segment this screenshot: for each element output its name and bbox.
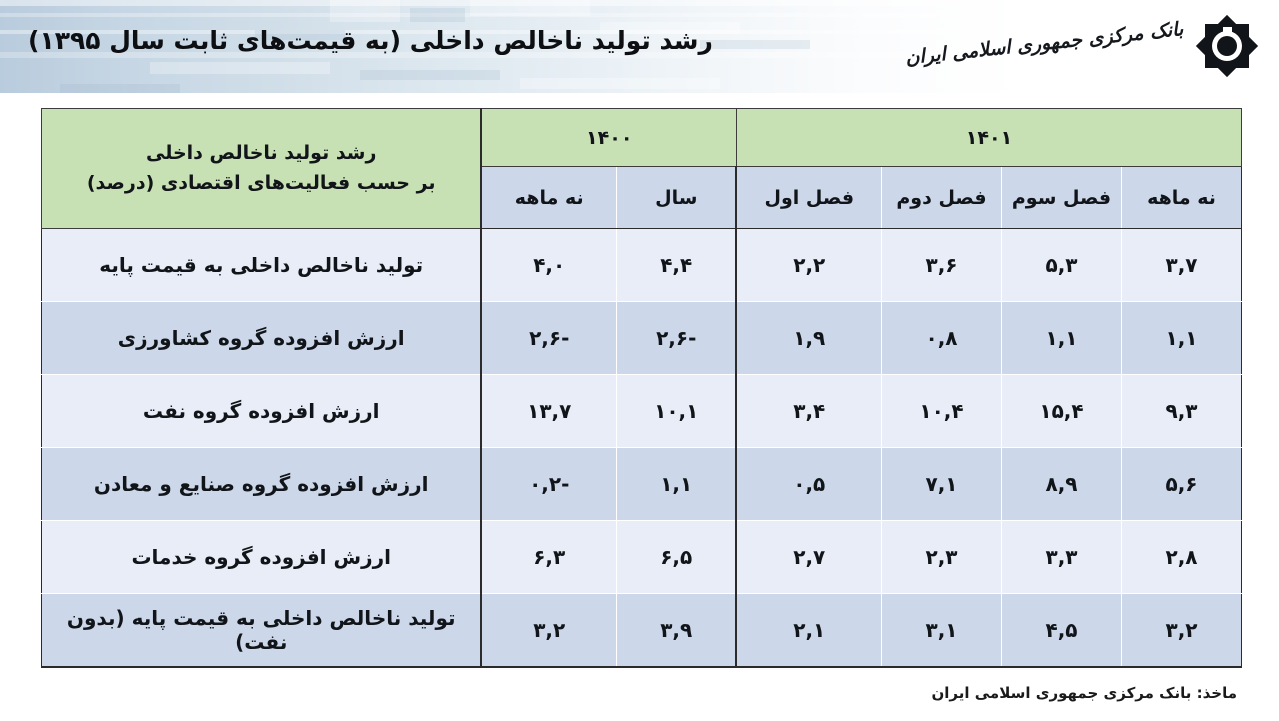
gdp-growth-table-container: ۱۴۰۱ ۱۴۰۰ رشد تولید ناخالص داخلی بر حسب … [42,108,1242,668]
stub-header-line-1: رشد تولید ناخالص داخلی [42,139,481,168]
cell-value: ۶,۵ [616,521,736,594]
cell-value: ۱۵,۴ [1002,375,1122,448]
row-label: ارزش افزوده گروه نفت [41,375,481,448]
row-label: تولید ناخالص داخلی به قیمت پایه (بدون نف… [41,594,481,667]
cell-value: ۰,۵ [736,448,881,521]
cell-value: ۳,۹ [616,594,736,667]
cell-value: ۵,۳ [1002,229,1122,302]
row-label: ارزش افزوده گروه صنایع و معادن [41,448,481,521]
table-row: ۳,۲ ۴,۵ ۳,۱ ۲,۱ ۳,۹ ۳,۲ تولید ناخالص داخ… [41,594,1241,667]
row-label: ارزش افزوده گروه خدمات [41,521,481,594]
col-header-1401-q3: فصل سوم [1002,167,1122,229]
cell-value: ۸,۹ [1002,448,1122,521]
cell-value: -۲,۶ [616,302,736,375]
cell-value: ۳,۱ [882,594,1002,667]
cell-value: ۰,۸ [882,302,1002,375]
table-row: ۱,۱ ۱,۱ ۰,۸ ۱,۹ -۲,۶ -۲,۶ ارزش افزوده گر… [41,302,1241,375]
table-head: ۱۴۰۱ ۱۴۰۰ رشد تولید ناخالص داخلی بر حسب … [41,109,1241,229]
bank-name-calligraphy: بانک مرکزی جمهوری اسلامی ایران [904,18,1184,69]
group-header-1400: ۱۴۰۰ [481,109,736,167]
table-row: ۲,۸ ۳,۳ ۲,۳ ۲,۷ ۶,۵ ۶,۳ ارزش افزوده گروه… [41,521,1241,594]
cell-value: ۴,۴ [616,229,736,302]
cell-value: ۲,۸ [1122,521,1242,594]
cell-value: ۳,۲ [1122,594,1242,667]
source-note: ماخذ: بانک مرکزی جمهوری اسلامی ایران [931,684,1237,702]
cell-value: ۱,۱ [1002,302,1122,375]
cell-value: ۱۰,۱ [616,375,736,448]
cell-value: ۶,۳ [481,521,616,594]
group-header-row: ۱۴۰۱ ۱۴۰۰ رشد تولید ناخالص داخلی بر حسب … [41,109,1241,167]
cell-value: ۱,۱ [1122,302,1242,375]
cell-value: ۳,۴ [736,375,881,448]
cell-value: ۴,۰ [481,229,616,302]
cell-value: ۱۰,۴ [882,375,1002,448]
col-header-1401-nine-months: نه ماهه [1122,167,1242,229]
stub-header-line-2: بر حسب فعالیت‌های اقتصادی (درصد) [42,169,481,198]
cell-value: ۴,۵ [1002,594,1122,667]
cell-value: ۹,۳ [1122,375,1242,448]
cell-value: ۲,۷ [736,521,881,594]
gdp-growth-table: ۱۴۰۱ ۱۴۰۰ رشد تولید ناخالص داخلی بر حسب … [41,108,1242,668]
cell-value: ۲,۱ [736,594,881,667]
table-body: ۳,۷ ۵,۳ ۳,۶ ۲,۲ ۴,۴ ۴,۰ تولید ناخالص داخ… [41,229,1241,667]
table-row: ۵,۶ ۸,۹ ۷,۱ ۰,۵ ۱,۱ -۰,۲ ارزش افزوده گرو… [41,448,1241,521]
group-header-1401: ۱۴۰۱ [736,109,1241,167]
cell-value: ۲,۳ [882,521,1002,594]
row-label: ارزش افزوده گروه کشاورزی [41,302,481,375]
stub-header-cell: رشد تولید ناخالص داخلی بر حسب فعالیت‌های… [41,109,481,229]
row-label: تولید ناخالص داخلی به قیمت پایه [41,229,481,302]
cell-value: ۱,۹ [736,302,881,375]
page-header-banner: بانک مرکزی جمهوری اسلامی ایران رشد تولید… [0,0,1279,93]
cell-value: ۵,۶ [1122,448,1242,521]
col-header-1400-nine-months: نه ماهه [481,167,616,229]
cell-value: -۲,۶ [481,302,616,375]
cell-value: ۱,۱ [616,448,736,521]
table-row: ۹,۳ ۱۵,۴ ۱۰,۴ ۳,۴ ۱۰,۱ ۱۳,۷ ارزش افزوده … [41,375,1241,448]
cell-value: ۳,۷ [1122,229,1242,302]
cell-value: ۳,۲ [481,594,616,667]
cell-value: ۷,۱ [882,448,1002,521]
cell-value: ۱۳,۷ [481,375,616,448]
col-header-1401-q2: فصل دوم [882,167,1002,229]
cell-value: -۰,۲ [481,448,616,521]
col-header-1401-q1: فصل اول [736,167,881,229]
cell-value: ۳,۳ [1002,521,1122,594]
cell-value: ۳,۶ [882,229,1002,302]
cell-value: ۲,۲ [736,229,881,302]
col-header-1400-year: سال [616,167,736,229]
page-title: رشد تولید ناخالص داخلی (به قیمت‌های ثابت… [28,26,713,55]
table-row: ۳,۷ ۵,۳ ۳,۶ ۲,۲ ۴,۴ ۴,۰ تولید ناخالص داخ… [41,229,1241,302]
central-bank-emblem-icon [1191,12,1263,80]
